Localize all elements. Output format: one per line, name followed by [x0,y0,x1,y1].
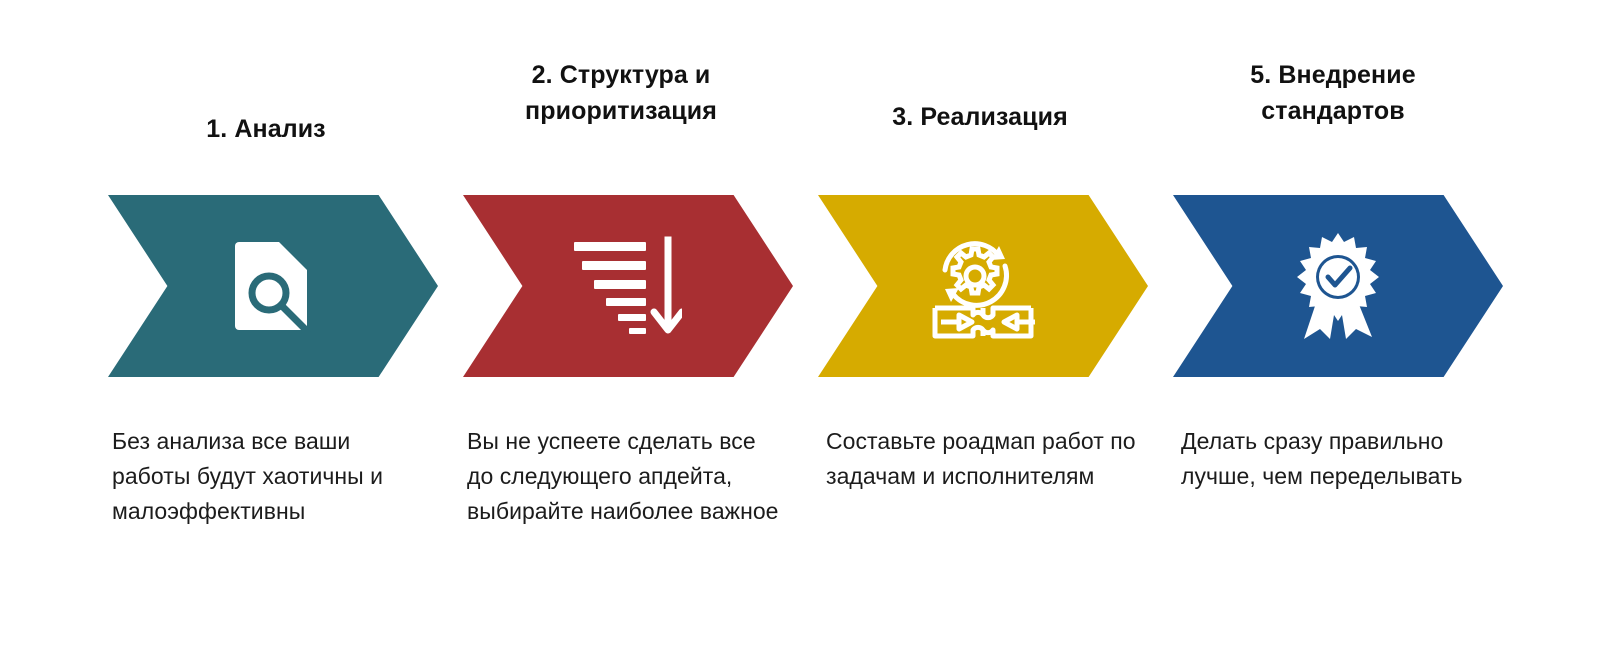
step-chevron-banner [108,195,438,377]
step-chevron-banner [463,195,793,377]
process-step: 2. Структура и приоритизация [463,0,808,667]
step-title: 2. Структура и приоритизация [471,58,771,129]
step-description: Составьте роадмап работ по задачам и исп… [826,424,1146,494]
step-title: 1. Анализ [116,112,416,148]
step-description: Делать сразу правильно лучше, чем переде… [1181,424,1511,494]
step-chevron-banner [818,195,1148,377]
step-title: 5. Внедрение стандартов [1183,58,1483,129]
process-step: 1. Анализ Без анализа все ваши работы бу… [108,0,453,667]
process-step: 5. Внедрение стандартов Делат [1173,0,1518,667]
process-steps-row: 1. Анализ Без анализа все ваши работы бу… [0,0,1618,667]
step-chevron-banner [1173,195,1503,377]
infographic-board: 1. Анализ Без анализа все ваши работы бу… [0,0,1618,667]
step-description: Вы не успеете сделать все до следующего … [467,424,787,529]
step-title: 3. Реализация [830,100,1130,136]
process-step: 3. Реализация [818,0,1163,667]
step-description: Без анализа все ваши работы будут хаотич… [112,424,432,529]
